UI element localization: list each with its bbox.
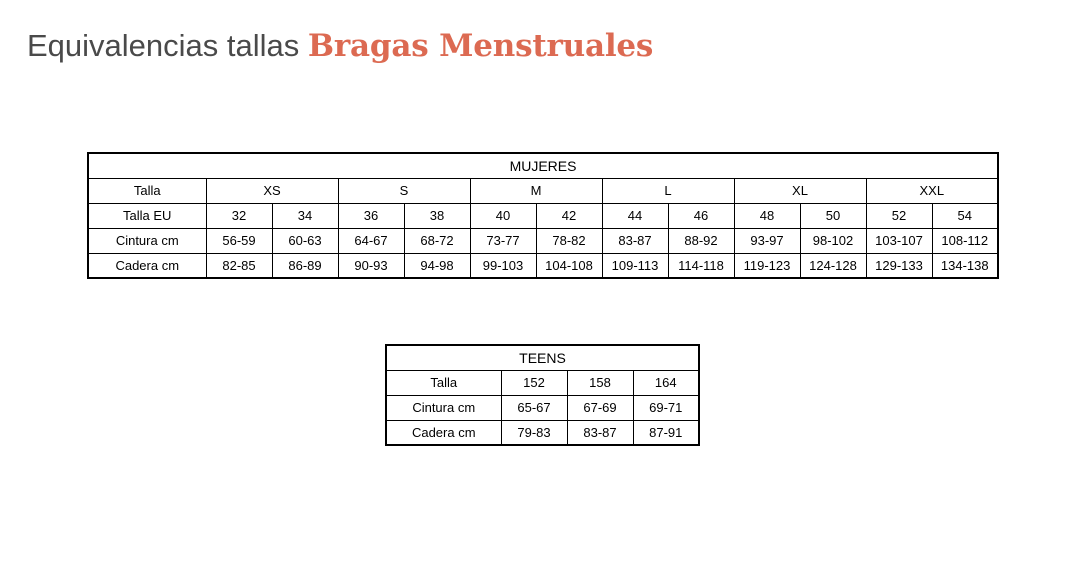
table-row: Cadera cm 82-85 86-89 90-93 94-98 99-103… <box>88 253 998 278</box>
table-cell: 88-92 <box>668 228 734 253</box>
table-cell: 50 <box>800 203 866 228</box>
table-cell: 83-87 <box>567 420 633 445</box>
table-row: Cadera cm 79-83 83-87 87-91 <box>386 420 699 445</box>
table-cell: 44 <box>602 203 668 228</box>
mujeres-table-body: MUJERES Talla XS S M L XL XXL Talla EU 3… <box>88 153 998 278</box>
table-cell: 65-67 <box>501 395 567 420</box>
table-cell: 99-103 <box>470 253 536 278</box>
table-cell: 34 <box>272 203 338 228</box>
table-cell: 124-128 <box>800 253 866 278</box>
table-cell: 114-118 <box>668 253 734 278</box>
table-cell: 129-133 <box>866 253 932 278</box>
teens-row-label: Talla <box>386 370 501 395</box>
table-cell: 109-113 <box>602 253 668 278</box>
table-cell: 152 <box>501 370 567 395</box>
teens-row-label: Cintura cm <box>386 395 501 420</box>
table-cell: 38 <box>404 203 470 228</box>
mujeres-row-label: Talla EU <box>88 203 206 228</box>
mujeres-group-xs: XS <box>206 178 338 203</box>
teens-row-label: Cadera cm <box>386 420 501 445</box>
table-cell: 134-138 <box>932 253 998 278</box>
table-cell: 86-89 <box>272 253 338 278</box>
table-cell: 73-77 <box>470 228 536 253</box>
page-title: Equivalencias tallas Bragas Menstruales <box>27 27 653 65</box>
mujeres-row-label: Cintura cm <box>88 228 206 253</box>
teens-caption: TEENS <box>386 345 699 370</box>
page-title-plain: Equivalencias tallas <box>27 28 308 63</box>
mujeres-caption-row: MUJERES <box>88 153 998 178</box>
table-cell: 93-97 <box>734 228 800 253</box>
table-cell: 54 <box>932 203 998 228</box>
table-cell: 94-98 <box>404 253 470 278</box>
table-cell: 79-83 <box>501 420 567 445</box>
mujeres-group-header-row: Talla XS S M L XL XXL <box>88 178 998 203</box>
table-cell: 32 <box>206 203 272 228</box>
mujeres-caption: MUJERES <box>88 153 998 178</box>
table-cell: 56-59 <box>206 228 272 253</box>
table-cell: 82-85 <box>206 253 272 278</box>
table-cell: 87-91 <box>633 420 699 445</box>
table-cell: 68-72 <box>404 228 470 253</box>
table-row: Cintura cm 56-59 60-63 64-67 68-72 73-77… <box>88 228 998 253</box>
table-cell: 108-112 <box>932 228 998 253</box>
table-cell: 42 <box>536 203 602 228</box>
table-cell: 46 <box>668 203 734 228</box>
teens-caption-row: TEENS <box>386 345 699 370</box>
table-cell: 67-69 <box>567 395 633 420</box>
table-cell: 119-123 <box>734 253 800 278</box>
mujeres-group-m: M <box>470 178 602 203</box>
mujeres-size-table: MUJERES Talla XS S M L XL XXL Talla EU 3… <box>87 152 999 279</box>
table-cell: 98-102 <box>800 228 866 253</box>
mujeres-group-xl: XL <box>734 178 866 203</box>
page-title-accent: Bragas Menstruales <box>308 28 653 64</box>
mujeres-row-label: Cadera cm <box>88 253 206 278</box>
table-row: Talla EU 32 34 36 38 40 42 44 46 48 50 5… <box>88 203 998 228</box>
teens-table-body: TEENS Talla 152 158 164 Cintura cm 65-67… <box>386 345 699 445</box>
table-cell: 60-63 <box>272 228 338 253</box>
table-cell: 64-67 <box>338 228 404 253</box>
mujeres-group-header-label: Talla <box>88 178 206 203</box>
table-cell: 40 <box>470 203 536 228</box>
mujeres-group-l: L <box>602 178 734 203</box>
table-cell: 90-93 <box>338 253 404 278</box>
table-cell: 104-108 <box>536 253 602 278</box>
table-row: Cintura cm 65-67 67-69 69-71 <box>386 395 699 420</box>
table-cell: 78-82 <box>536 228 602 253</box>
table-cell: 164 <box>633 370 699 395</box>
teens-size-table: TEENS Talla 152 158 164 Cintura cm 65-67… <box>385 344 700 446</box>
table-cell: 69-71 <box>633 395 699 420</box>
table-cell: 48 <box>734 203 800 228</box>
table-cell: 52 <box>866 203 932 228</box>
table-cell: 158 <box>567 370 633 395</box>
table-cell: 103-107 <box>866 228 932 253</box>
table-row: Talla 152 158 164 <box>386 370 699 395</box>
table-cell: 83-87 <box>602 228 668 253</box>
table-cell: 36 <box>338 203 404 228</box>
mujeres-group-xxl: XXL <box>866 178 998 203</box>
mujeres-group-s: S <box>338 178 470 203</box>
